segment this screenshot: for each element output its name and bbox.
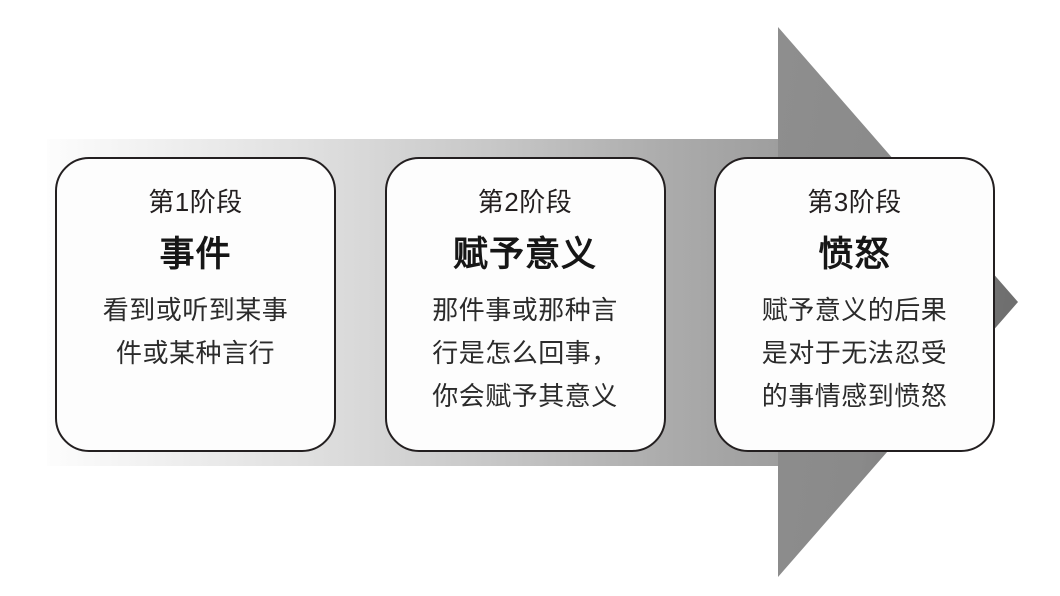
stage-title-3: 愤怒 xyxy=(818,235,890,275)
description-line: 你会赋予其意义 xyxy=(399,375,651,418)
description-line: 是对于无法忍受 xyxy=(725,332,985,375)
stage-label-1: 第1阶段 xyxy=(148,187,242,217)
stage-card-2[interactable]: 第2阶段 赋予意义 那件事或那种言 行是怎么回事， 你会赋予其意义 xyxy=(385,157,666,452)
stage-label-3: 第3阶段 xyxy=(807,187,901,217)
stage-card-3[interactable]: 第3阶段 愤怒 赋予意义的后果 是对于无法忍受 的事情感到愤怒 xyxy=(714,157,995,452)
description-line: 件或某种言行 xyxy=(71,332,321,375)
stage-card-row: 第1阶段 事件 看到或听到某事 件或某种言行 第2阶段 赋予意义 那件事或那种言… xyxy=(55,157,995,452)
stage-description-3: 赋予意义的后果 是对于无法忍受 的事情感到愤怒 xyxy=(725,289,985,418)
description-line: 看到或听到某事 xyxy=(71,289,321,332)
stage-title-1: 事件 xyxy=(159,235,231,275)
stage-card-1[interactable]: 第1阶段 事件 看到或听到某事 件或某种言行 xyxy=(55,157,336,452)
stage-description-2: 那件事或那种言 行是怎么回事， 你会赋予其意义 xyxy=(399,289,651,418)
description-line: 的事情感到愤怒 xyxy=(725,375,985,418)
diagram-canvas: 第1阶段 事件 看到或听到某事 件或某种言行 第2阶段 赋予意义 那件事或那种言… xyxy=(0,0,1060,596)
description-line: 那件事或那种言 xyxy=(399,289,651,332)
stage-title-2: 赋予意义 xyxy=(453,235,597,275)
description-line: 赋予意义的后果 xyxy=(725,289,985,332)
description-line: 行是怎么回事， xyxy=(399,332,651,375)
stage-label-2: 第2阶段 xyxy=(478,187,572,217)
stage-description-1: 看到或听到某事 件或某种言行 xyxy=(71,289,321,375)
